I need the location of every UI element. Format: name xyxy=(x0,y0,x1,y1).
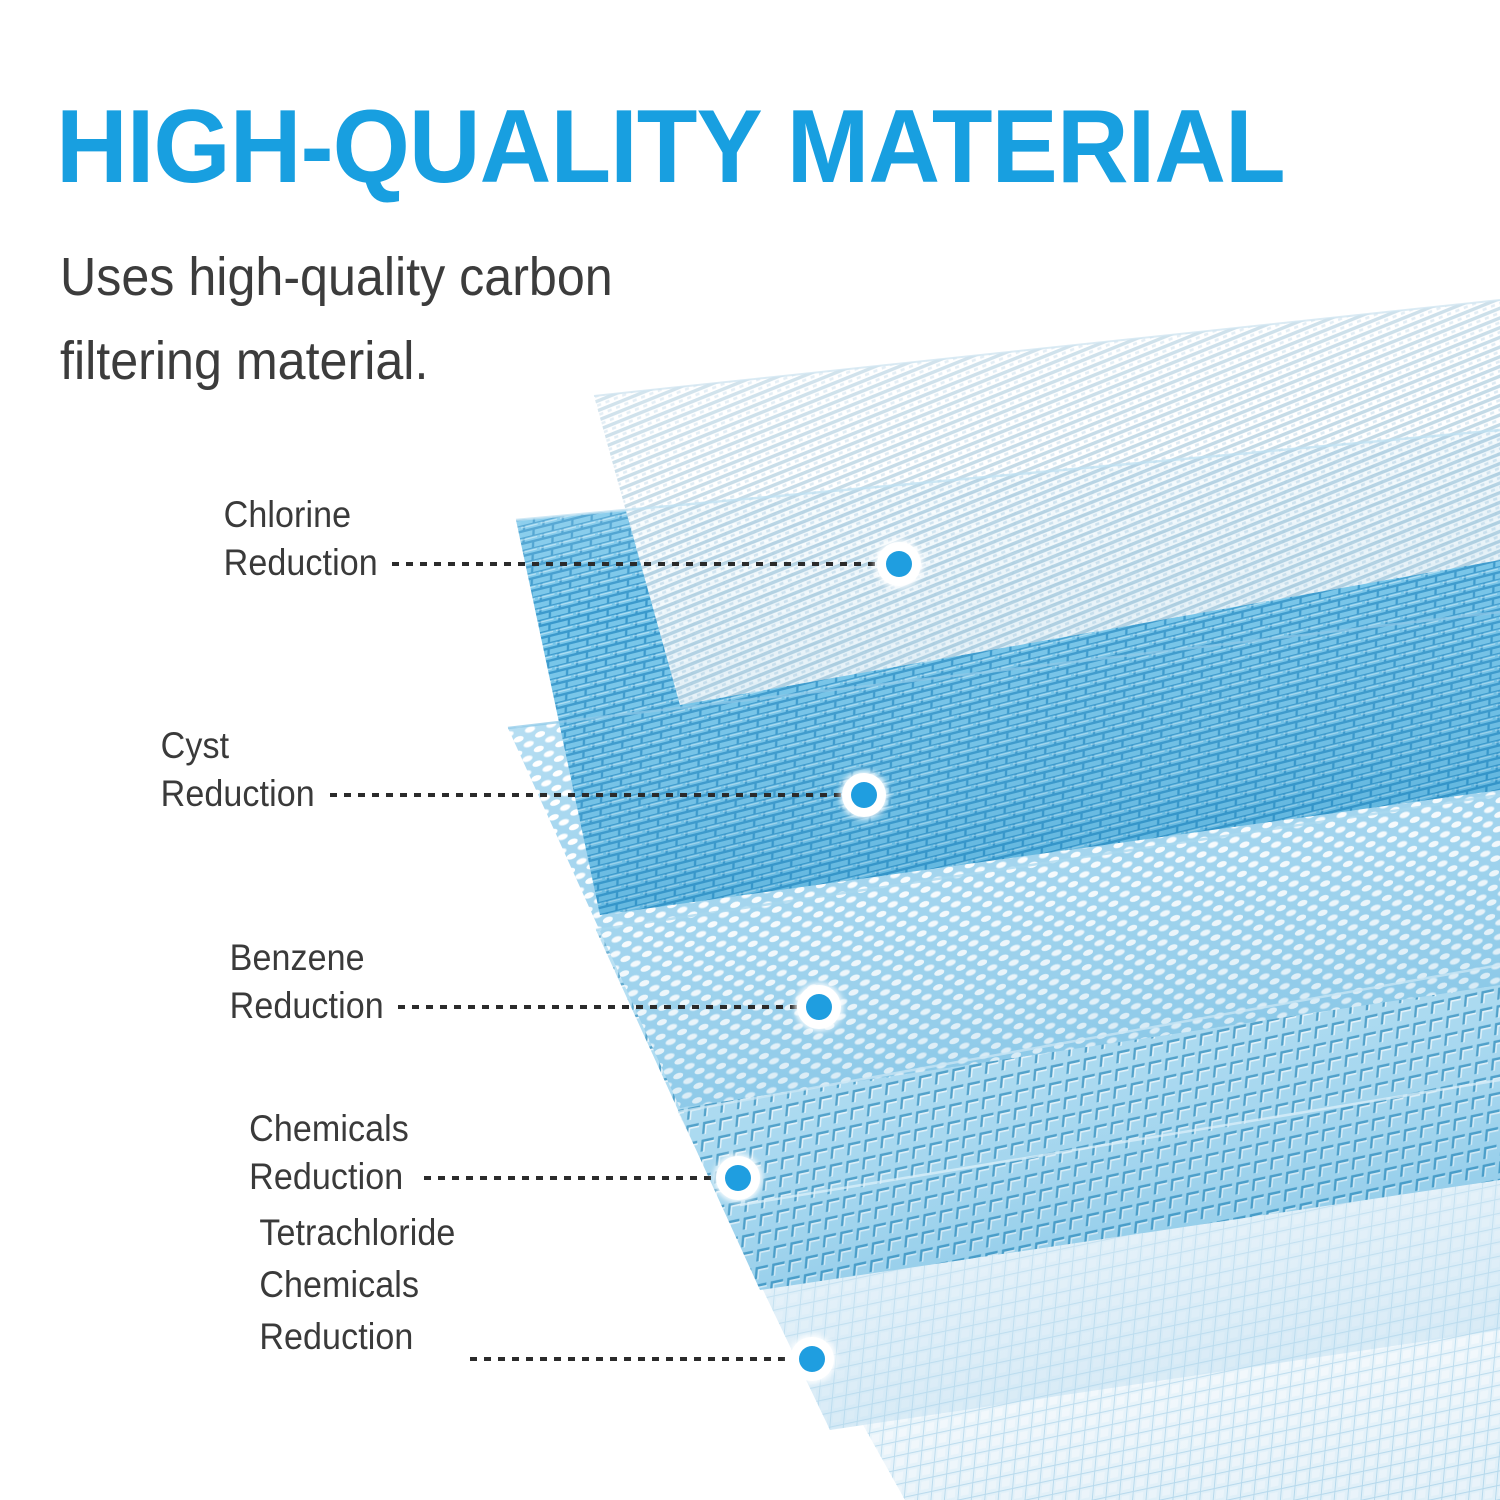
callout-marker-chlorine-reduction[interactable] xyxy=(877,542,921,586)
callout-label-benzene-reduction: Benzene Reduction xyxy=(229,934,398,1030)
leader-line-tetrachloride-chemicals-reduction xyxy=(470,1357,812,1361)
mesh-sheet-hook-grid xyxy=(560,770,1500,1330)
leader-line-chemicals-reduction xyxy=(424,1176,736,1180)
callout-marker-benzene-reduction[interactable] xyxy=(797,985,841,1029)
page-title: HIGH-QUALITY MATERIAL xyxy=(56,99,1403,195)
mesh-sheet-honeycomb xyxy=(480,390,1500,950)
mesh-sheet-fine-grid xyxy=(620,930,1500,1470)
leader-line-benzene-reduction xyxy=(398,1005,819,1009)
infographic-page: HIGH-QUALITY MATERIAL Uses high-quality … xyxy=(0,0,1500,1500)
callout-marker-cyst-reduction[interactable] xyxy=(842,773,886,817)
page-subtitle: Uses high-quality carbon filtering mater… xyxy=(60,235,767,403)
callout-marker-tetrachloride-chemicals-reduction[interactable] xyxy=(790,1337,834,1381)
sheet-edge-highlights xyxy=(508,300,1500,1205)
callout-label-cyst-reduction: Cyst Reduction xyxy=(161,722,330,818)
mesh-sheet-waffle xyxy=(600,1050,1500,1500)
leader-line-cyst-reduction xyxy=(330,793,864,797)
callout-label-tetrachloride-chemicals-reduction: Tetrachloride Chemicals Reduction xyxy=(259,1207,470,1363)
callout-label-chlorine-reduction: Chlorine Reduction xyxy=(223,491,392,587)
callout-label-chemicals-reduction: Chemicals Reduction xyxy=(250,1105,424,1201)
callout-marker-chemicals-reduction[interactable] xyxy=(716,1156,760,1200)
page-subtitle-line-2: filtering material. xyxy=(60,319,767,403)
leader-line-chlorine-reduction xyxy=(392,562,899,566)
mesh-sheet-oval-perf xyxy=(470,580,1500,1140)
page-subtitle-line-1: Uses high-quality carbon xyxy=(60,247,613,307)
